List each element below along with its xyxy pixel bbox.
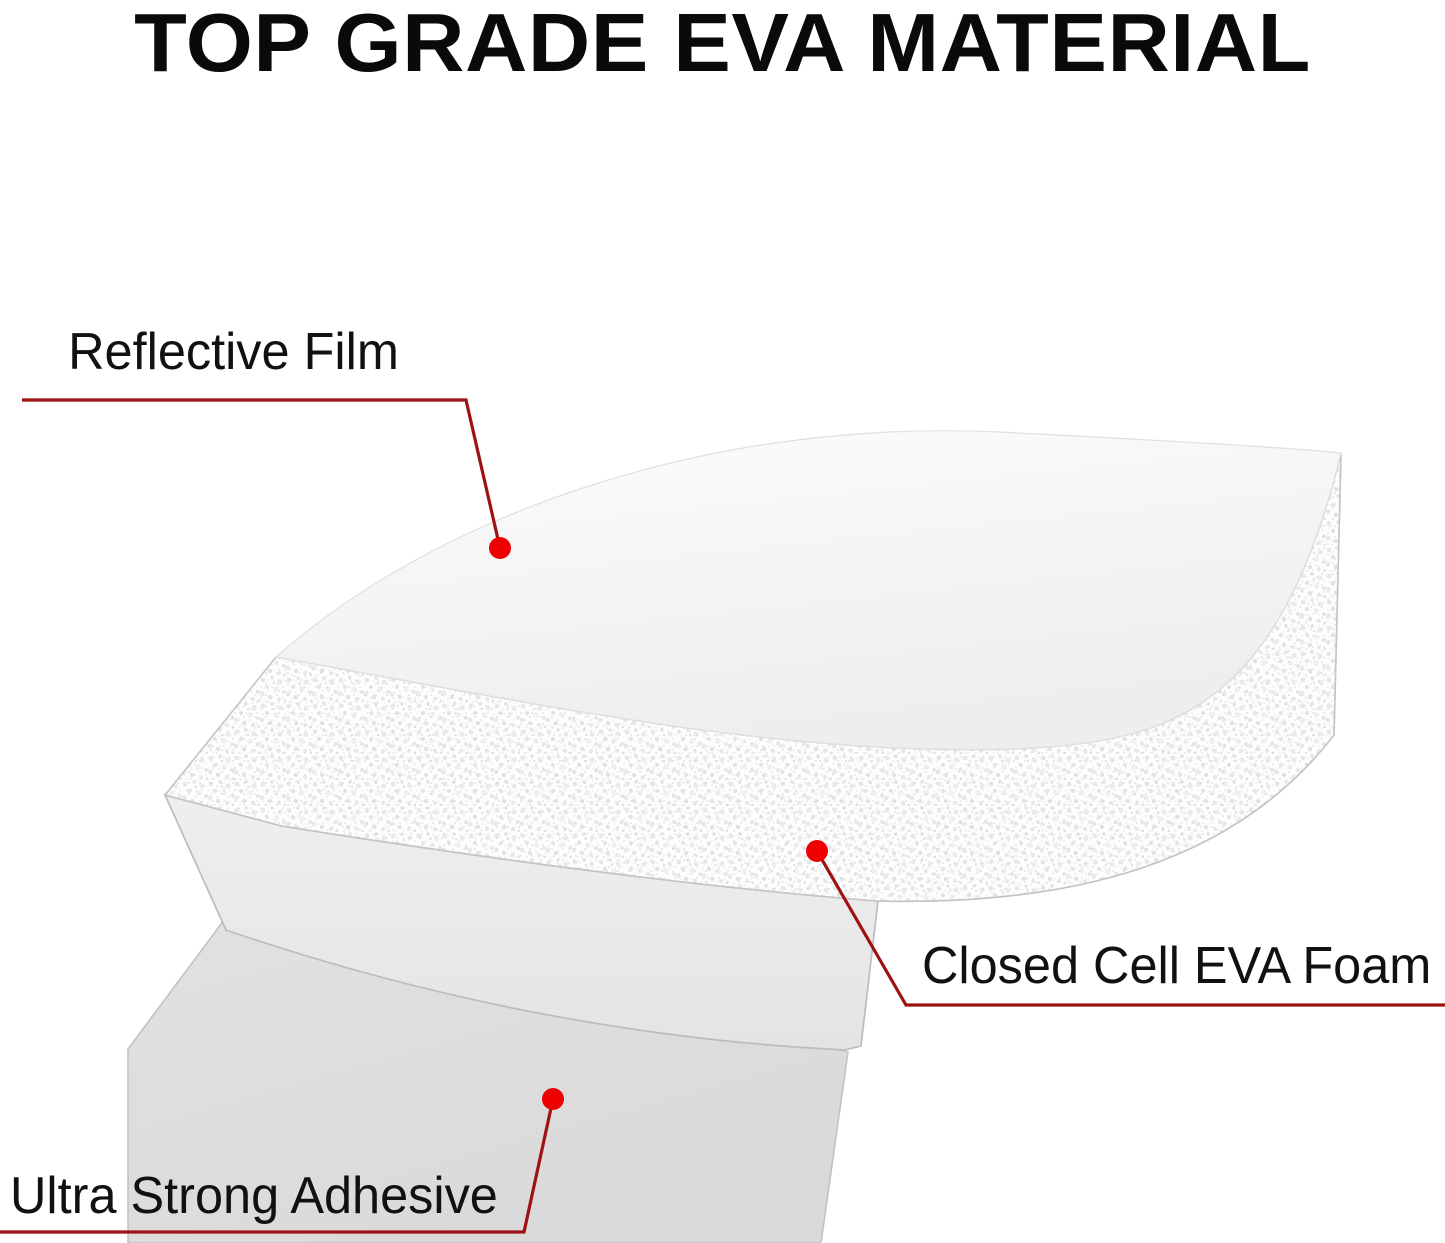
callout-label-closed-cell-foam: Closed Cell EVA Foam	[922, 938, 1431, 994]
leader-reflective-film	[22, 400, 511, 559]
leader-line-reflective-film	[22, 400, 500, 548]
callout-dot-ultra-strong-adhesive	[542, 1088, 564, 1110]
infographic-canvas: TOP GRADE EVA MATERIAL	[0, 0, 1445, 1243]
callout-label-ultra-strong-adhesive: Ultra Strong Adhesive	[10, 1168, 498, 1224]
callout-label-reflective-film: Reflective Film	[68, 324, 399, 380]
eva-material-illustration	[0, 0, 1445, 1243]
callout-dot-reflective-film	[489, 537, 511, 559]
callout-dot-closed-cell-foam	[806, 840, 828, 862]
